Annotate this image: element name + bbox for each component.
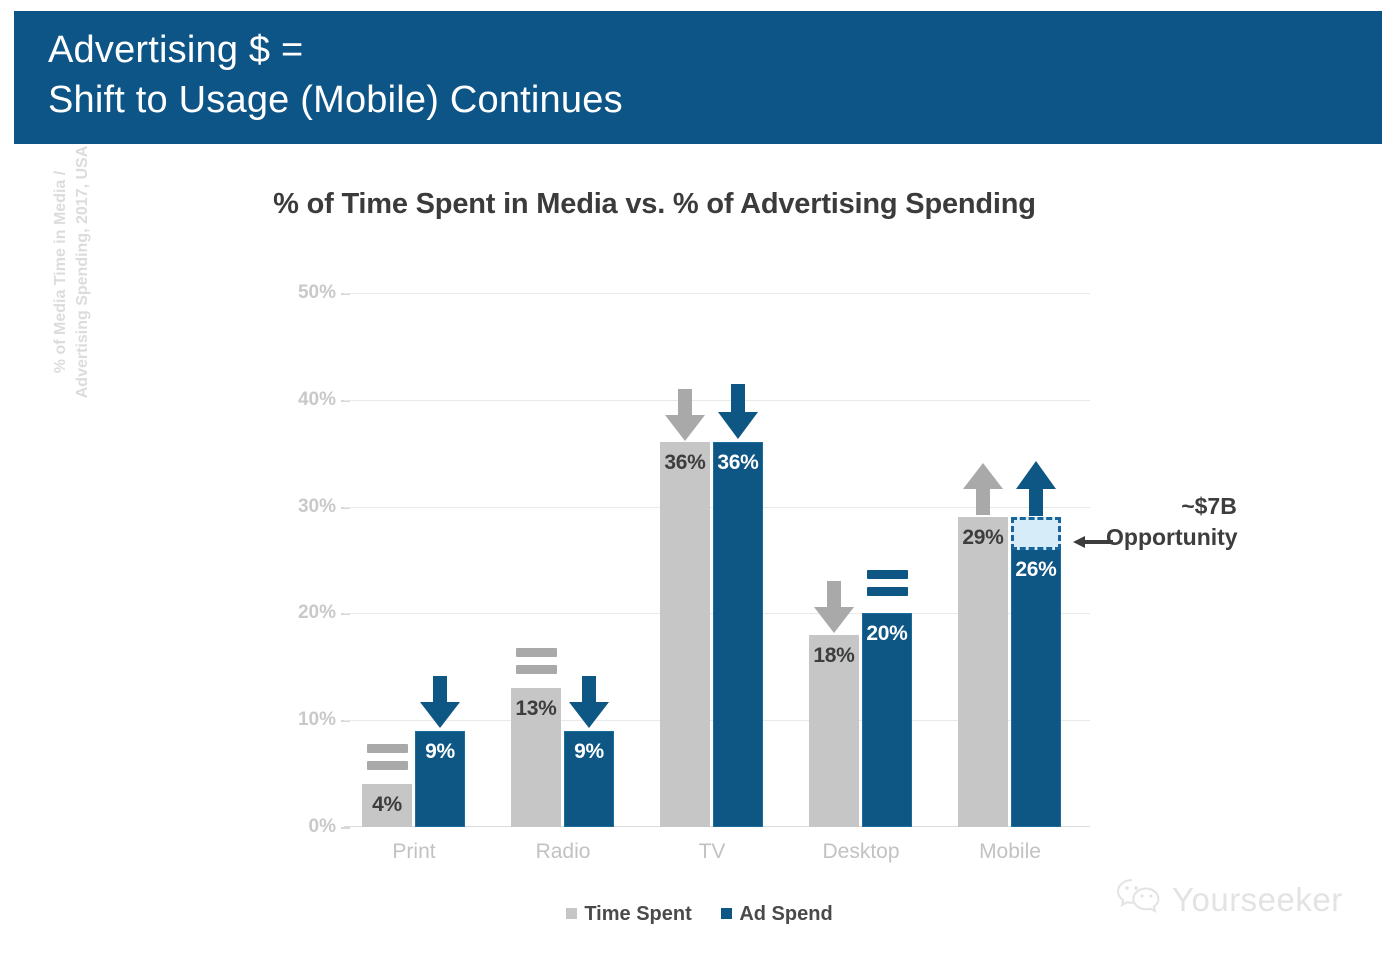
- bar-value-time-spent-print: 4%: [362, 793, 412, 817]
- bar-ad-spend-print[interactable]: 9%: [415, 731, 465, 827]
- bar-value-ad-spend-mobile: 26%: [1012, 558, 1060, 582]
- bar-value-time-spent-radio: 13%: [511, 697, 561, 721]
- y-tick-label-0: 0%: [266, 816, 336, 838]
- y-tick-label-30: 30%: [266, 496, 336, 518]
- y-tick-label-40: 40%: [266, 389, 336, 411]
- legend-item-time-spent[interactable]: Time Spent: [566, 903, 691, 926]
- bar-time-spent-tv[interactable]: 36%: [660, 442, 710, 827]
- bar-value-time-spent-mobile: 29%: [958, 526, 1008, 550]
- legend-item-ad-spend[interactable]: Ad Spend: [721, 903, 832, 926]
- equals-icon-time-spent-radio: [516, 648, 557, 679]
- legend-label-time-spent: Time Spent: [584, 903, 691, 925]
- equals-icon-time-spent-print: [367, 744, 408, 775]
- arrow-down-icon-ad-spend-radio: [569, 676, 609, 728]
- opportunity-callout-label: Opportunity: [1106, 522, 1356, 553]
- gridline-50: [344, 293, 1090, 294]
- opportunity-callout-amount: ~$7B: [1106, 491, 1356, 522]
- bar-ad-spend-mobile[interactable]: 26%: [1011, 549, 1061, 827]
- equals-icon-ad-spend-desktop: [867, 570, 908, 601]
- wechat-icon: [1116, 877, 1162, 923]
- x-label-tv: TV: [632, 840, 792, 864]
- y-tick-mark-0: [341, 827, 350, 829]
- x-label-radio: Radio: [483, 840, 643, 864]
- bar-value-ad-spend-print: 9%: [416, 740, 464, 764]
- y-tick-label-20: 20%: [266, 602, 336, 624]
- plot-area: 4% 9% 13% 9% 36% 36% 18%: [344, 293, 1090, 827]
- arrow-down-icon-time-spent-tv: [665, 389, 705, 441]
- bar-value-ad-spend-desktop: 20%: [863, 622, 911, 646]
- gridline-40: [344, 400, 1090, 401]
- arrow-up-icon-ad-spend-mobile: [1016, 461, 1056, 516]
- bar-value-ad-spend-radio: 9%: [565, 740, 613, 764]
- opportunity-callout: ~$7B Opportunity: [1106, 491, 1356, 553]
- arrow-down-icon-ad-spend-print: [420, 676, 460, 728]
- bar-value-time-spent-tv: 36%: [660, 451, 710, 475]
- bar-time-spent-print[interactable]: 4%: [362, 784, 412, 827]
- arrow-down-icon-ad-spend-tv: [718, 384, 758, 439]
- legend-label-ad-spend: Ad Spend: [739, 903, 832, 925]
- bar-ad-spend-tv[interactable]: 36%: [713, 442, 763, 827]
- legend-swatch-time-spent: [566, 908, 577, 919]
- x-label-print: Print: [334, 840, 494, 864]
- y-tick-label-50: 50%: [266, 282, 336, 304]
- x-label-mobile: Mobile: [930, 840, 1090, 864]
- bar-time-spent-desktop[interactable]: 18%: [809, 635, 859, 827]
- arrow-down-icon-time-spent-desktop: [814, 581, 854, 633]
- arrow-up-icon-time-spent-mobile: [963, 463, 1003, 515]
- bar-value-ad-spend-tv: 36%: [714, 451, 762, 475]
- bar-ad-spend-radio[interactable]: 9%: [564, 731, 614, 827]
- bar-value-time-spent-desktop: 18%: [809, 644, 859, 668]
- bar-time-spent-mobile[interactable]: 29%: [958, 517, 1008, 827]
- watermark-text: Yourseeker: [1172, 881, 1343, 919]
- opportunity-gap-box[interactable]: [1011, 517, 1061, 550]
- x-label-desktop: Desktop: [781, 840, 941, 864]
- watermark: Yourseeker: [1116, 877, 1343, 923]
- bar-ad-spend-desktop[interactable]: 20%: [862, 613, 912, 827]
- legend-swatch-ad-spend: [721, 908, 732, 919]
- y-tick-label-10: 10%: [266, 709, 336, 731]
- bar-time-spent-radio[interactable]: 13%: [511, 688, 561, 827]
